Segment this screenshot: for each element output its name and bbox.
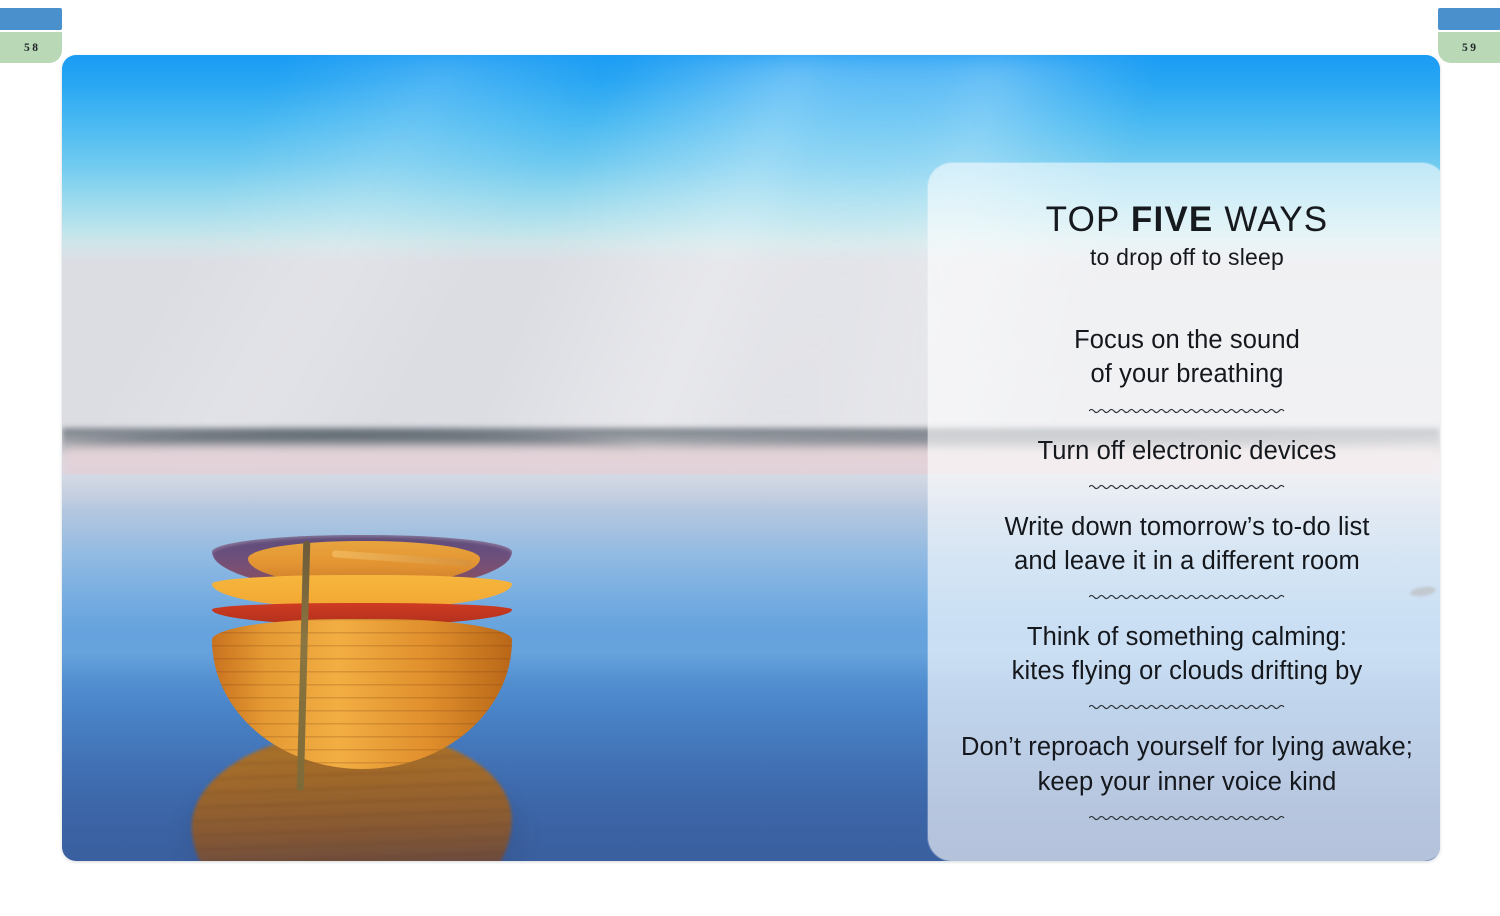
tips-list: Focus on the sound of your breathing Tur… xyxy=(954,323,1420,822)
page-tab-bar-right xyxy=(1438,8,1500,30)
lake-boat-photograph: TOP FIVE WAYS to drop off to sleep Focus… xyxy=(62,55,1440,861)
list-item: Think of something calming: kites flying… xyxy=(954,620,1420,688)
panel-title-lead: TOP xyxy=(1046,200,1131,239)
list-item: Focus on the sound of your breathing xyxy=(954,323,1420,391)
page-number-right: 59 xyxy=(1460,42,1479,54)
wavy-separator-icon xyxy=(1089,482,1285,492)
page-tab-bar-left xyxy=(0,8,62,30)
panel-title-emphasis: FIVE xyxy=(1131,200,1214,239)
page-number-tab-left: 58 xyxy=(0,32,62,63)
panel-subtitle: to drop off to sleep xyxy=(954,244,1420,271)
list-item: Write down tomorrow’s to-do list and lea… xyxy=(954,510,1420,578)
wavy-separator-icon xyxy=(1089,592,1285,602)
page-number-tab-right: 59 xyxy=(1438,32,1500,63)
book-spread-page: 58 59 TOP FIVE WAYS to drop xyxy=(0,0,1500,916)
boat-hull-planking xyxy=(212,619,512,769)
list-item: Don’t reproach yourself for lying awake;… xyxy=(954,730,1420,798)
list-item: Turn off electronic devices xyxy=(954,434,1420,468)
wavy-separator-icon xyxy=(1089,813,1285,823)
panel-title: TOP FIVE WAYS xyxy=(954,199,1420,240)
tips-panel: TOP FIVE WAYS to drop off to sleep Focus… xyxy=(928,163,1440,861)
page-tab-left: 58 xyxy=(0,0,62,64)
rowboat xyxy=(212,535,512,861)
page-number-left: 58 xyxy=(22,42,41,54)
wavy-separator-icon xyxy=(1089,406,1285,416)
panel-title-trail: WAYS xyxy=(1213,200,1328,239)
page-tab-right: 59 xyxy=(1438,0,1500,64)
wavy-separator-icon xyxy=(1089,702,1285,712)
